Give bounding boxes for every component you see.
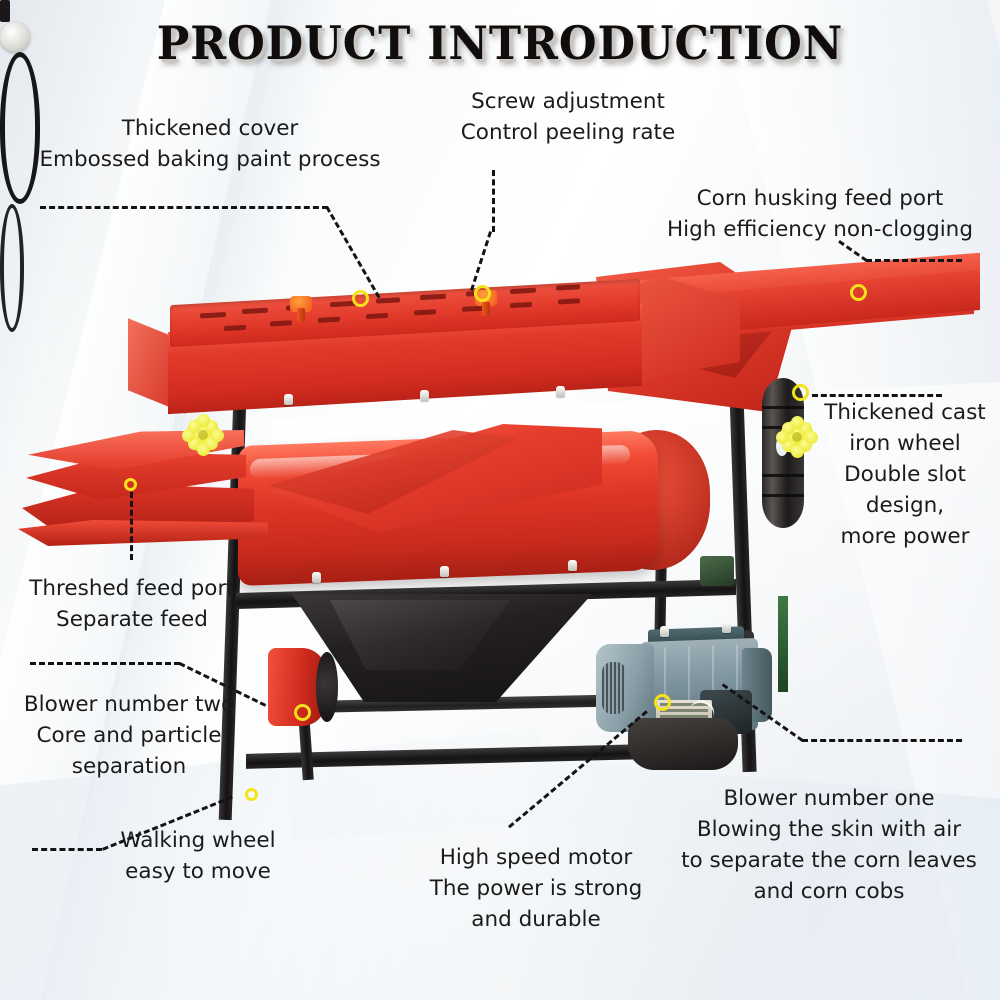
marker-cast-iron-wheel[interactable] [792, 384, 809, 401]
callout-line: more power [814, 521, 996, 552]
callout-screw-adjustment: Screw adjustment Control peeling rate [443, 86, 693, 148]
callout-line: and durable [406, 904, 666, 935]
blower-number-two-side [316, 652, 338, 722]
walking-wheel [0, 22, 30, 52]
callout-line: iron wheel [814, 428, 996, 459]
drum-bolt [312, 572, 321, 583]
callout-blower-number-one: Blower number one Blowing the skin with … [664, 783, 994, 907]
yellow-adjust-knob-right[interactable] [780, 420, 814, 454]
callout-cast-iron-wheel: Thickened cast iron wheel Double slot de… [814, 397, 996, 552]
callout-thickened-cover: Thickened cover Embossed baking paint pr… [20, 113, 400, 175]
cover-bolt [284, 394, 293, 405]
drum-bolt [440, 566, 449, 577]
callout-line: Blowing the skin with air [664, 814, 994, 845]
callout-line: design, [814, 490, 996, 521]
leader-line-blower-one [802, 739, 962, 742]
callout-line: to separate the corn leaves [664, 845, 994, 876]
caster-arm [0, 0, 10, 22]
leader-line-threshed-feed-port [130, 492, 133, 560]
motor-bolt [660, 626, 669, 637]
marker-threshed-feed-port[interactable] [124, 478, 137, 491]
callout-corn-husking-feed-port: Corn husking feed port High efficiency n… [646, 183, 994, 245]
gearbox-bracket [700, 556, 734, 586]
callout-threshed-feed-port: Threshed feed port Separate feed [6, 573, 258, 635]
callout-line: Thickened cast [814, 397, 996, 428]
callout-walking-wheel: Walking wheel easy to move [88, 825, 308, 887]
cover-bolt [556, 386, 565, 397]
drive-belt-inner [0, 204, 24, 332]
product-infographic: PRODUCT INTRODUCTION [0, 0, 1000, 1000]
cover-bolt [420, 390, 429, 401]
leader-line-corn-husking [866, 259, 962, 262]
marker-walking-wheel[interactable] [245, 788, 258, 801]
leader-line-screw-adjustment [492, 170, 495, 232]
callout-line: Double slot [814, 459, 996, 490]
drum-bolt [568, 560, 577, 571]
marker-screw-adjustment[interactable] [474, 285, 491, 302]
green-strip [778, 596, 788, 692]
marker-thickened-cover[interactable] [352, 290, 369, 307]
callout-line: Corn husking feed port [646, 183, 994, 214]
callout-line: Separate feed [6, 604, 258, 635]
callout-line: Blower number two [4, 689, 254, 720]
marker-high-speed-motor[interactable] [654, 694, 671, 711]
callout-line: separation [4, 751, 254, 782]
callout-line: High speed motor [406, 842, 666, 873]
callout-high-speed-motor: High speed motor The power is strong and… [406, 842, 666, 935]
callout-line: Walking wheel [88, 825, 308, 856]
callout-line: easy to move [88, 856, 308, 887]
callout-line: Core and particle [4, 720, 254, 751]
callout-line: Threshed feed port [6, 573, 258, 604]
callout-line: Embossed baking paint process [20, 144, 400, 175]
callout-blower-number-two: Blower number two Core and particle sepa… [4, 689, 254, 782]
motor-bolt [722, 622, 731, 633]
callout-line: and corn cobs [664, 876, 994, 907]
motor-air-grill-icon [602, 662, 626, 714]
callout-line: Screw adjustment [443, 86, 693, 117]
callout-line: Blower number one [664, 783, 994, 814]
screw-adjustment-knob[interactable] [290, 296, 312, 312]
marker-corn-husking-feed-port[interactable] [850, 284, 867, 301]
callout-line: The power is strong [406, 873, 666, 904]
callout-line: High efficiency non-clogging [646, 214, 994, 245]
callout-line: Control peeling rate [443, 117, 693, 148]
leader-line-thickened-cover [40, 206, 328, 209]
leader-line-blower-two [30, 662, 180, 665]
marker-blower-number-two[interactable] [294, 704, 311, 721]
callout-line: Thickened cover [20, 113, 400, 144]
blower-number-one-housing [628, 718, 738, 770]
yellow-adjust-knob-left[interactable] [186, 418, 220, 452]
